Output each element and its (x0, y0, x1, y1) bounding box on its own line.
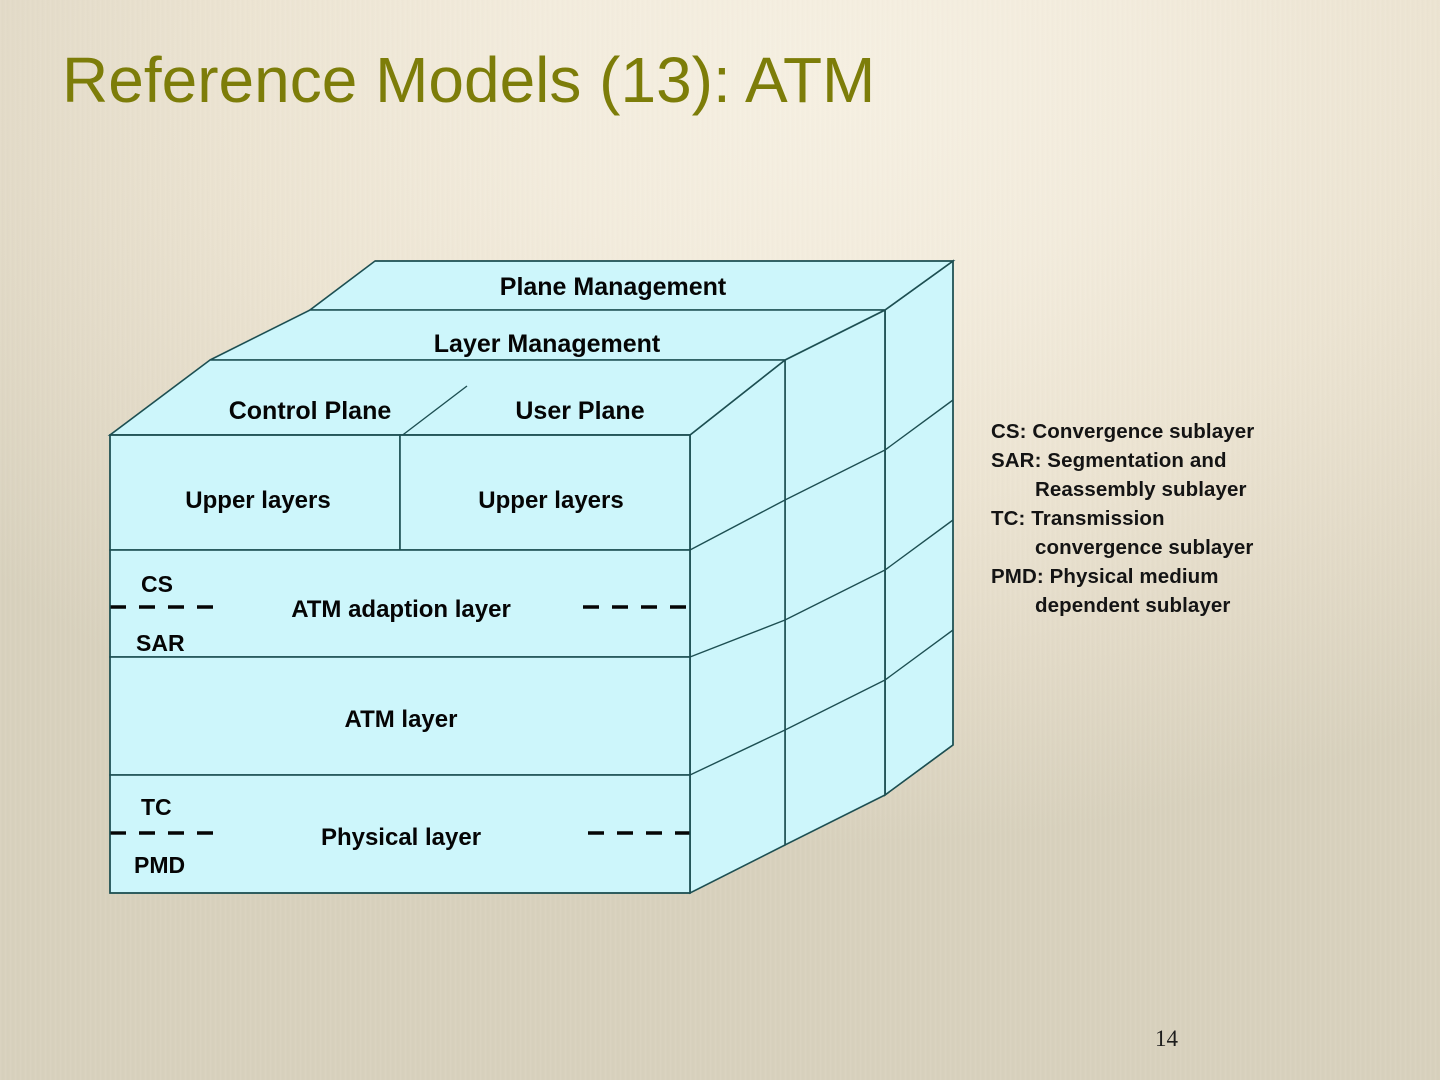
upper-layers-user-label: Upper layers (478, 487, 623, 514)
legend-line-3: Reassembly sublayer (991, 475, 1371, 504)
user-plane-label: User Plane (515, 397, 644, 425)
cs-sublayer-label: CS (141, 571, 173, 597)
pmd-sublayer-label: PMD (134, 852, 185, 878)
layer-management-label: Layer Management (434, 330, 661, 358)
legend-line-6: PMD: Physical medium (991, 562, 1371, 591)
plane-management-label: Plane Management (500, 273, 727, 301)
aal-label: ATM adaption layer (291, 596, 511, 623)
legend-line-5: convergence sublayer (991, 533, 1371, 562)
atm-layer-label: ATM layer (345, 706, 458, 733)
legend-line-7: dependent sublayer (991, 591, 1371, 620)
page-number: 14 (1155, 1026, 1178, 1052)
legend-line-2: SAR: Segmentation and (991, 446, 1371, 475)
abbreviation-legend: CS: Convergence sublayer SAR: Segmentati… (991, 417, 1371, 620)
tc-sublayer-label: TC (141, 794, 172, 820)
sar-sublayer-label: SAR (136, 630, 185, 656)
slide-canvas: Reference Models (13): ATM .face { fill:… (0, 0, 1440, 1080)
legend-line-4: TC: Transmission (991, 504, 1371, 533)
physical-layer-label: Physical layer (321, 824, 481, 851)
front-layer-stack: Upper layers Upper layers ATM adaption l… (110, 435, 690, 893)
upper-layers-control-label: Upper layers (185, 487, 330, 514)
control-plane-label: Control Plane (229, 397, 392, 425)
legend-line-1: CS: Convergence sublayer (991, 417, 1371, 446)
